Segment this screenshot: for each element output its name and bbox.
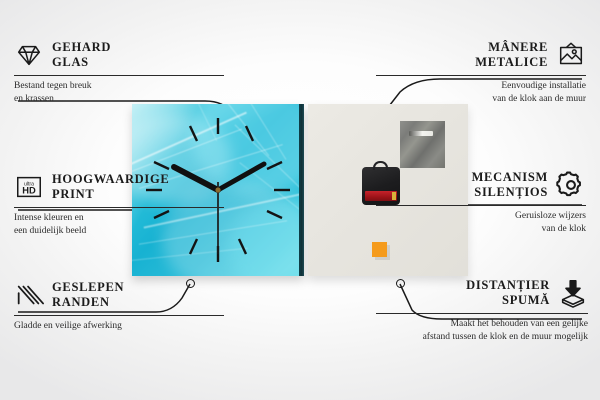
feature-subtitle: Gladde en veilige afwerking [14, 320, 224, 333]
feature-foam-spacer: DISTANȚIER SPUMĂ Maakt het behouden van … [376, 276, 588, 344]
divider [14, 207, 224, 208]
feature-subtitle: Bestand tegen breuk en krassen [14, 80, 224, 106]
ultra-hd-icon: ultra HD [14, 172, 44, 202]
tick-10 [154, 162, 169, 169]
tick-5 [239, 239, 246, 254]
feature-subtitle: Geruisloze wijzers van de klok [376, 210, 586, 236]
feature-title: MECANISM SILENȚIOS [472, 170, 548, 201]
gear-icon [556, 170, 586, 200]
feature-tempered-glass: GEHARD GLAS Bestand tegen breuk en krass… [14, 38, 224, 106]
feature-polished-edges: GESLEPEN RANDEN Gladde en veilige afwerk… [14, 278, 224, 333]
diamond-icon [14, 40, 44, 70]
picture-frame-hanger-icon [556, 40, 586, 70]
divider [376, 75, 586, 76]
tick-11 [190, 126, 197, 141]
feature-title: GEHARD GLAS [52, 40, 111, 71]
divider [14, 315, 224, 316]
foam-spacer-pad [372, 242, 387, 257]
feature-title: MÂNERE METALICE [475, 40, 548, 71]
feature-title: HOOGWAARDIGE PRINT [52, 172, 169, 203]
divider [376, 205, 586, 206]
feature-silent-mechanism: MECANISM SILENȚIOS Geruisloze wijzers va… [376, 168, 586, 236]
divider [14, 75, 224, 76]
hanger-slot [409, 131, 433, 136]
tick-7 [190, 239, 197, 254]
minute-hand [218, 164, 264, 190]
bevelled-edges-icon [14, 280, 44, 310]
tick-4 [267, 211, 282, 218]
feature-title: GESLEPEN RANDEN [52, 280, 124, 311]
svg-text:HD: HD [22, 186, 36, 196]
feature-subtitle: Eenvoudige installatie van de klok aan d… [376, 80, 586, 106]
feature-subtitle: Maakt het behouden van een gelijke afsta… [376, 318, 588, 344]
feature-title: DISTANȚIER SPUMĂ [466, 278, 550, 309]
infographic-canvas: GEHARD GLAS Bestand tegen breuk en krass… [0, 0, 600, 400]
feature-subtitle: Intense kleuren en een duidelijk beeld [14, 212, 224, 238]
feature-high-quality-print: ultra HD HOOGWAARDIGE PRINT Intense kleu… [14, 170, 224, 238]
tick-2 [267, 162, 282, 169]
feature-metal-hangers: MÂNERE METALICE Eenvoudige installatie v… [376, 38, 586, 106]
tick-1 [246, 126, 253, 141]
metal-hanger-plate [400, 121, 445, 168]
press-down-arrow-icon [558, 278, 588, 308]
divider [376, 313, 588, 314]
